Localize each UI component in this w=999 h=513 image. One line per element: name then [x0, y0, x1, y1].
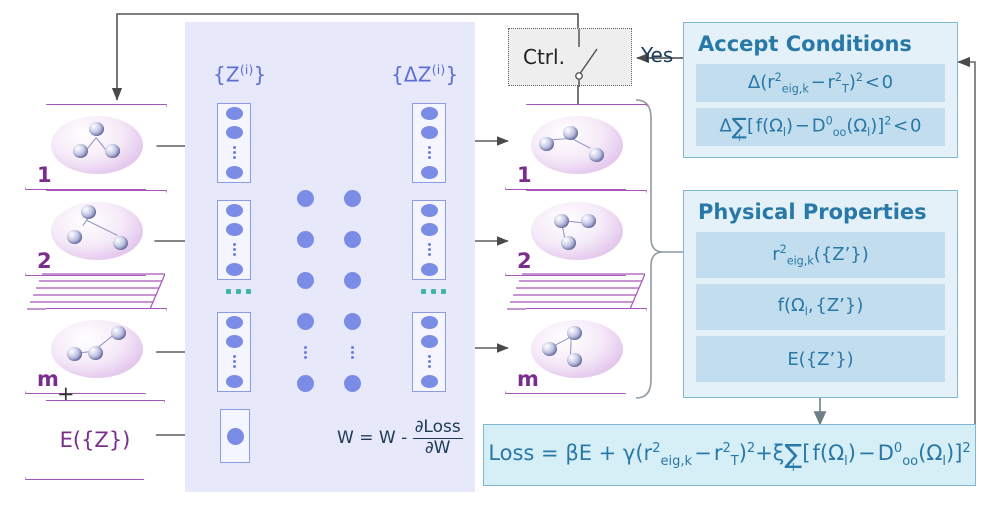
- physical-property-row-3: E({Z’}): [696, 336, 945, 382]
- weight-update-formula: W = W - ∂Loss ∂W: [337, 418, 463, 458]
- physical-property-row-1: r2eig,k({Z’}): [696, 232, 945, 278]
- output-blocks-ellipsis-icon: [421, 289, 446, 294]
- node-dot: [421, 107, 438, 120]
- vertical-ellipsis-icon: [428, 241, 431, 258]
- structure-index: 2: [517, 249, 532, 273]
- node-dot: [421, 223, 438, 236]
- node-dot: [226, 335, 243, 348]
- vertical-ellipsis-icon: [304, 344, 307, 361]
- input-structure-card-m[interactable]: m: [25, 308, 165, 392]
- yes-label: Yes: [641, 43, 673, 67]
- node-dot: [226, 107, 243, 120]
- node-dot: [297, 272, 314, 289]
- control-box[interactable]: Ctrl.: [508, 28, 632, 86]
- node-dot: [226, 263, 243, 276]
- structure-index: 2: [37, 249, 52, 273]
- physical-property-formula-2: f(Ωl, {Z’}): [778, 295, 864, 319]
- output-structure-card-1[interactable]: 1: [505, 104, 645, 188]
- vertical-ellipsis-icon: [233, 144, 236, 161]
- accept-condition-row-2: Δ∑l[ f(Ωl) − D0oo(Ωl)]2 < 0: [696, 108, 945, 146]
- node-dot: [421, 166, 438, 179]
- node-dot: [226, 223, 243, 236]
- node-dot: [297, 313, 314, 330]
- node-dot: [226, 375, 243, 388]
- hidden-layer-column-2[interactable]: [344, 178, 361, 404]
- node-dot: [226, 126, 243, 139]
- weight-update-numerator: ∂Loss: [413, 418, 463, 439]
- node-dot: [226, 316, 243, 329]
- node-dot: [421, 204, 438, 217]
- output-node-block-2[interactable]: [412, 200, 446, 280]
- node-dot: [344, 313, 361, 330]
- output-node-block-1[interactable]: [412, 103, 446, 183]
- loss-formula: Loss = βE + γ(r2eig,k − r2T)2+ξ∑l[ f(Ωl)…: [488, 440, 970, 470]
- loss-box: Loss = βE + γ(r2eig,k − r2T)2+ξ∑l[ f(Ωl)…: [483, 424, 976, 486]
- structure-index: 1: [517, 163, 532, 187]
- structure-index: 1: [37, 163, 52, 187]
- physical-property-row-2: f(Ωl, {Z’}): [696, 284, 945, 330]
- node-dot: [344, 272, 361, 289]
- input-structure-card-2[interactable]: 2: [25, 190, 165, 274]
- node-dot: [344, 190, 361, 207]
- output-structure-card-m[interactable]: m: [505, 308, 645, 392]
- accept-conditions-title: Accept Conditions: [698, 32, 945, 56]
- physical-property-formula-1: r2eig,k({Z’}): [772, 243, 869, 268]
- accept-condition-row-1: Δ(r2eig,k − r2T)2 < 0: [696, 64, 945, 102]
- node-dot: [226, 166, 243, 179]
- input-energy-card[interactable]: E({Z}): [25, 400, 165, 480]
- accept-condition-formula-2: Δ∑l[ f(Ωl) − D0oo(Ωl)]2 < 0: [719, 114, 921, 140]
- accept-conditions-panel: Accept Conditions Δ(r2eig,k − r2T)2 < 0 …: [683, 22, 958, 158]
- network-input-label: {Z(i)}: [213, 62, 266, 87]
- structure-index: m: [37, 367, 59, 391]
- structure-index: m: [517, 367, 539, 391]
- diagram-canvas: {Z(i)} {ΔZ(i)}: [0, 0, 999, 513]
- energy-input-node-block[interactable]: [220, 409, 250, 463]
- weight-update-denominator: ∂W: [413, 439, 463, 459]
- node-dot: [344, 375, 361, 392]
- node-dot: [344, 231, 361, 248]
- node-dot: [297, 375, 314, 392]
- node-dot: [421, 335, 438, 348]
- physical-properties-panel: Physical Properties r2eig,k({Z’}) f(Ωl, …: [683, 190, 958, 398]
- node-dot: [421, 375, 438, 388]
- input-structure-card-1[interactable]: 1: [25, 104, 165, 188]
- vertical-ellipsis-icon: [428, 353, 431, 370]
- vertical-ellipsis-icon: [233, 241, 236, 258]
- vertical-ellipsis-icon: [233, 353, 236, 370]
- output-node-block-m[interactable]: [412, 312, 446, 392]
- node-dot: [297, 231, 314, 248]
- switch-open-icon[interactable]: [571, 29, 631, 87]
- node-dot: [421, 263, 438, 276]
- node-dot: [227, 428, 244, 445]
- input-node-block-m[interactable]: [217, 312, 251, 392]
- input-energy-label: E({Z}): [25, 400, 165, 480]
- accept-condition-formula-1: Δ(r2eig,k − r2T)2 < 0: [748, 71, 893, 96]
- weight-update-fraction: ∂Loss ∂W: [413, 418, 463, 458]
- network-output-label: {ΔZ(i)}: [391, 62, 458, 87]
- vertical-ellipsis-icon: [428, 144, 431, 161]
- node-dot: [297, 190, 314, 207]
- input-blocks-ellipsis-icon: [226, 289, 251, 294]
- input-node-block-2[interactable]: [217, 200, 251, 280]
- node-dot: [421, 126, 438, 139]
- physical-properties-title: Physical Properties: [698, 200, 945, 224]
- node-dot: [421, 316, 438, 329]
- vertical-ellipsis-icon: [351, 344, 354, 361]
- output-structure-card-2[interactable]: 2: [505, 190, 645, 274]
- control-label: Ctrl.: [523, 45, 565, 69]
- physical-property-formula-3: E({Z’}): [787, 349, 853, 370]
- input-node-block-1[interactable]: [217, 103, 251, 183]
- weight-update-prefix: W = W -: [337, 428, 407, 448]
- hidden-layer-column-1[interactable]: [297, 178, 314, 404]
- node-dot: [226, 204, 243, 217]
